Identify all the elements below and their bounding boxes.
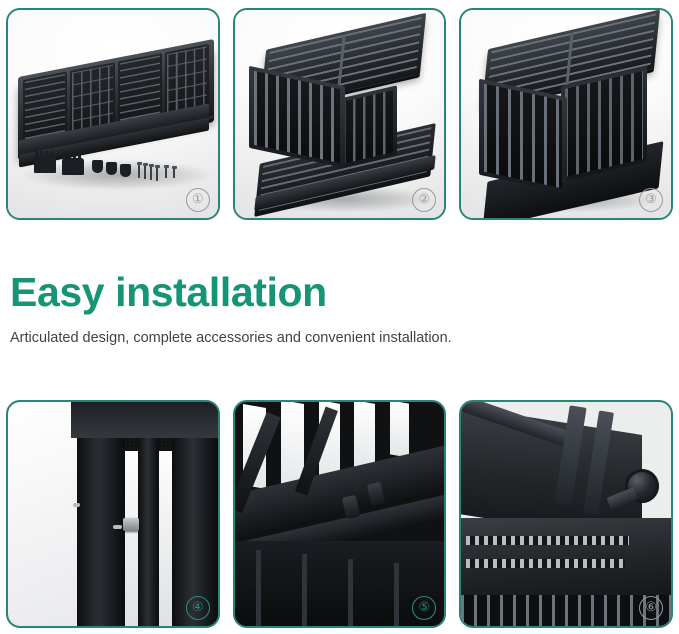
- lower-bar: [256, 550, 261, 626]
- accessory-group: [34, 150, 184, 178]
- assembled-cage: [479, 66, 665, 206]
- step-4-photo: [8, 402, 218, 626]
- step-panel-4[interactable]: ④: [6, 400, 220, 628]
- bolt-icon: [150, 166, 152, 180]
- front-panel: [249, 66, 345, 168]
- glove-icon: [62, 158, 84, 175]
- front-bars: [484, 84, 562, 189]
- caster-wheel-icon: [92, 160, 103, 173]
- infographic-sheet: ① ②: [0, 0, 679, 634]
- lower-bar: [394, 563, 399, 626]
- bolt-icon: [173, 168, 175, 178]
- step-panel-5[interactable]: ⑤: [233, 400, 447, 628]
- step-2-illustration: [235, 10, 445, 218]
- base-frame: [459, 518, 673, 594]
- step-3-illustration: [461, 10, 671, 218]
- white-wall: [8, 402, 79, 626]
- step-badge: ①: [186, 188, 210, 212]
- step-panel-3[interactable]: ③: [459, 8, 673, 220]
- step-panel-6[interactable]: ⑥: [459, 400, 673, 628]
- side-panel: [339, 85, 397, 168]
- lower-bar: [302, 554, 307, 626]
- bolt-icon: [156, 167, 158, 181]
- front-bars: [254, 71, 340, 163]
- step-badge: ④: [186, 596, 210, 620]
- caster-wheel-icon: [120, 164, 131, 177]
- steps-row-top: ① ②: [0, 8, 679, 220]
- glove-icon: [34, 156, 56, 173]
- steps-row-bottom: ④ ⑤: [0, 400, 679, 628]
- latch-pin-icon: [113, 525, 122, 529]
- vent-slots: [466, 536, 630, 545]
- top-rail: [71, 402, 218, 438]
- side-bars: [343, 90, 393, 164]
- bar-gap: [159, 451, 172, 626]
- step-6-photo: [461, 402, 671, 626]
- step-1-illustration: [8, 10, 218, 218]
- side-bars: [565, 71, 643, 177]
- cage-front-panel: [479, 79, 567, 194]
- vent-slots: [466, 559, 625, 568]
- bar-gap: [125, 451, 138, 626]
- step-panel-1[interactable]: ①: [6, 8, 220, 220]
- caster-wheel-icon: [106, 162, 117, 175]
- bolt-icon: [165, 167, 167, 178]
- page-subtitle: Articulated design, complete accessories…: [10, 328, 610, 348]
- cage-side-panel: [561, 66, 647, 182]
- step-badge: ⑥: [639, 596, 663, 620]
- bolt-icon: [144, 165, 146, 179]
- step-5-photo: [235, 402, 445, 626]
- text-block: Easy installation Articulated design, co…: [10, 268, 610, 348]
- latch-pin-icon: [73, 503, 80, 507]
- lower-bar: [348, 559, 353, 626]
- latch-icon: [123, 518, 139, 531]
- page-title: Easy installation: [10, 268, 610, 316]
- bar-gap: [354, 400, 375, 471]
- bolt-icon: [138, 164, 140, 178]
- cage-base: [249, 76, 439, 202]
- bar-gap: [390, 400, 409, 457]
- step-panel-2[interactable]: ②: [233, 8, 447, 220]
- step-badge: ③: [639, 188, 663, 212]
